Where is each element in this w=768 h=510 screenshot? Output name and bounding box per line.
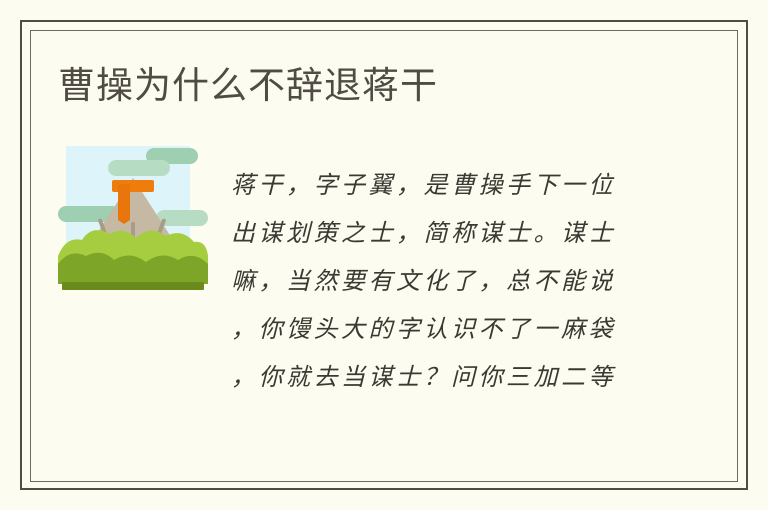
- bush-row-dark: [58, 253, 208, 284]
- ground-bar: [62, 282, 204, 290]
- lava-flow: [118, 184, 130, 216]
- body-line: ，你馒头大的字认识不了一麻袋: [231, 306, 651, 354]
- volcano-illustration: [58, 144, 208, 294]
- body-line: 出谋划策之士，简称谋士。谋士: [231, 210, 651, 258]
- body-line: ，你就去当谋士？问你三加二等: [231, 354, 651, 402]
- page-title: 曹操为什么不辞退蒋干: [58, 63, 438, 109]
- article-card: 曹操为什么不辞退蒋干: [0, 0, 768, 510]
- article-body: 蒋干，字子翼，是曹操手下一位 出谋划策之士，简称谋士。谋士 嘛，当然要有文化了，…: [231, 162, 651, 402]
- cloud-top-left: [108, 160, 170, 176]
- body-line: 嘛，当然要有文化了，总不能说: [231, 258, 651, 306]
- body-line: 蒋干，字子翼，是曹操手下一位: [231, 162, 651, 210]
